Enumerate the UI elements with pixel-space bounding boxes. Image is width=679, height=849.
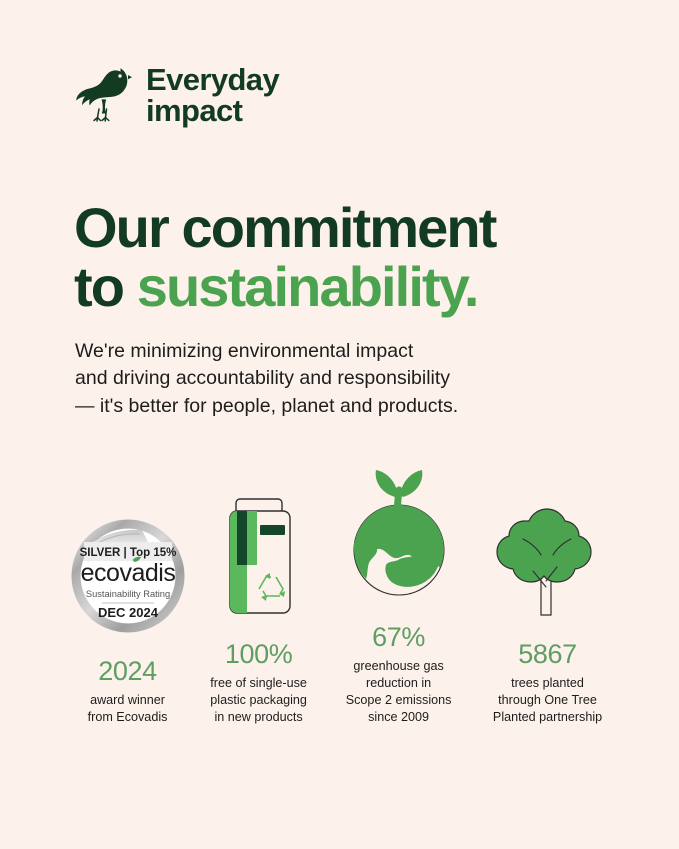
headline-line-2-prefix: to — [74, 255, 137, 318]
stat-item: 5867 trees planted through One Tree Plan… — [473, 479, 622, 726]
stat-caption: greenhouse gas reduction in Scope 2 emis… — [346, 658, 452, 727]
stat-value: 100% — [225, 641, 292, 668]
badge-wordmark: ecovadis — [80, 559, 175, 587]
globe-sprout-icon — [340, 462, 458, 602]
brand-logo: Everyday impact — [76, 62, 279, 129]
stat-item: 67% greenhouse gas reduction in Scope 2 … — [324, 462, 473, 727]
brand-name: Everyday impact — [146, 65, 279, 125]
bird-icon — [76, 62, 132, 129]
stat-caption: trees planted through One Tree Planted p… — [493, 675, 602, 726]
stats-row: SILVER | Top 15% ecovadis Sustainability… — [62, 462, 622, 727]
stat-caption: award winner from Ecovadis — [88, 692, 168, 726]
tree-icon — [493, 479, 603, 619]
stat-value: 67% — [372, 624, 425, 651]
sustainability-infographic: Everyday impact Our commitment to sustai… — [0, 0, 679, 849]
stat-value: 5867 — [518, 641, 576, 668]
badge-subtitle: Sustainability Rating — [85, 589, 169, 599]
headline-accent: sustainability. — [137, 255, 478, 318]
stat-item: SILVER | Top 15% ecovadis Sustainability… — [62, 496, 193, 726]
headline-line-1: Our commitment — [74, 196, 495, 259]
page-title: Our commitment to sustainability. — [74, 198, 634, 318]
badge-ribbon-level: SILVER | Top 15% — [79, 547, 176, 559]
stat-item: 100% free of single-use plastic packagin… — [193, 479, 324, 726]
ecovadis-medal-icon: SILVER | Top 15% ecovadis Sustainability… — [66, 496, 190, 636]
recyclable-package-icon — [214, 479, 304, 619]
stat-value: 2024 — [98, 658, 156, 685]
badge-date: DEC 2024 — [98, 605, 159, 620]
stat-caption: free of single-use plastic packaging in … — [210, 675, 307, 726]
intro-paragraph: We're minimizing environmental impact an… — [75, 338, 575, 421]
